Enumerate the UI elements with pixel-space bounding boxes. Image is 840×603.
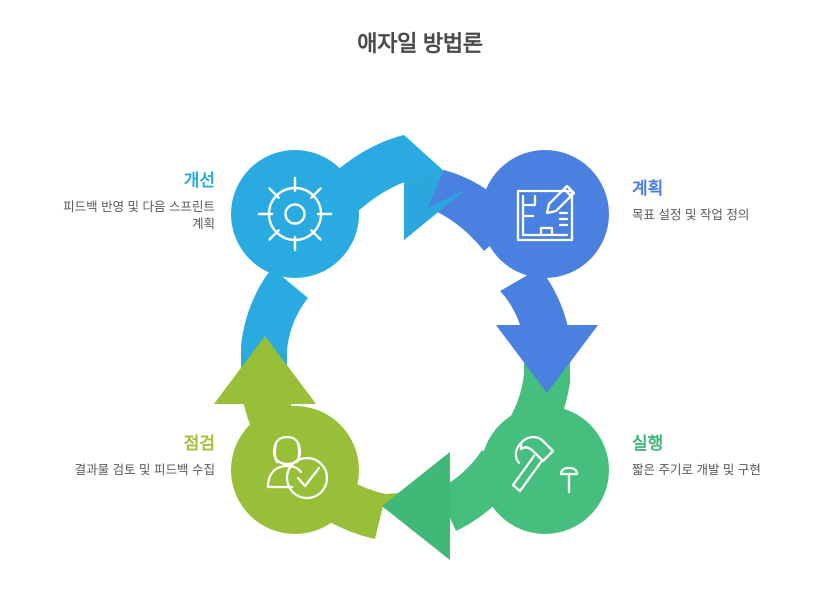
stage-label-execute: 실행 짧은 주기로 개발 및 구현: [632, 433, 840, 479]
stage-node-improve[interactable]: [231, 150, 359, 278]
stage-label-review: 점검 결과물 검토 및 피드백 수집: [5, 433, 215, 479]
stage-desc-execute: 짧은 주기로 개발 및 구현: [632, 462, 840, 479]
stage-desc-plan: 목표 설정 및 작업 정의: [632, 207, 840, 224]
stage-node-execute[interactable]: [481, 406, 609, 534]
stage-label-improve: 개선 피드백 반영 및 다음 스프린트 계획: [5, 170, 215, 233]
stage-circle-review: [231, 406, 359, 534]
stage-circle-execute: [481, 406, 609, 534]
stage-title-execute: 실행: [632, 433, 840, 455]
stage-desc-improve-line2: 계획: [5, 216, 215, 233]
stage-title-plan: 계획: [632, 178, 840, 200]
agile-cycle-diagram: [0, 0, 840, 603]
stage-node-plan[interactable]: [481, 150, 609, 278]
stage-desc-review: 결과물 검토 및 피드백 수집: [5, 462, 215, 479]
stage-title-improve: 개선: [5, 170, 215, 192]
stage-circle-plan: [481, 150, 609, 278]
stage-node-review[interactable]: [231, 406, 359, 534]
stage-circle-improve: [231, 150, 359, 278]
stage-desc-improve-line1: 피드백 반영 및 다음 스프린트: [5, 199, 215, 216]
stage-title-review: 점검: [5, 433, 215, 455]
stage-label-plan: 계획 목표 설정 및 작업 정의: [632, 178, 840, 224]
